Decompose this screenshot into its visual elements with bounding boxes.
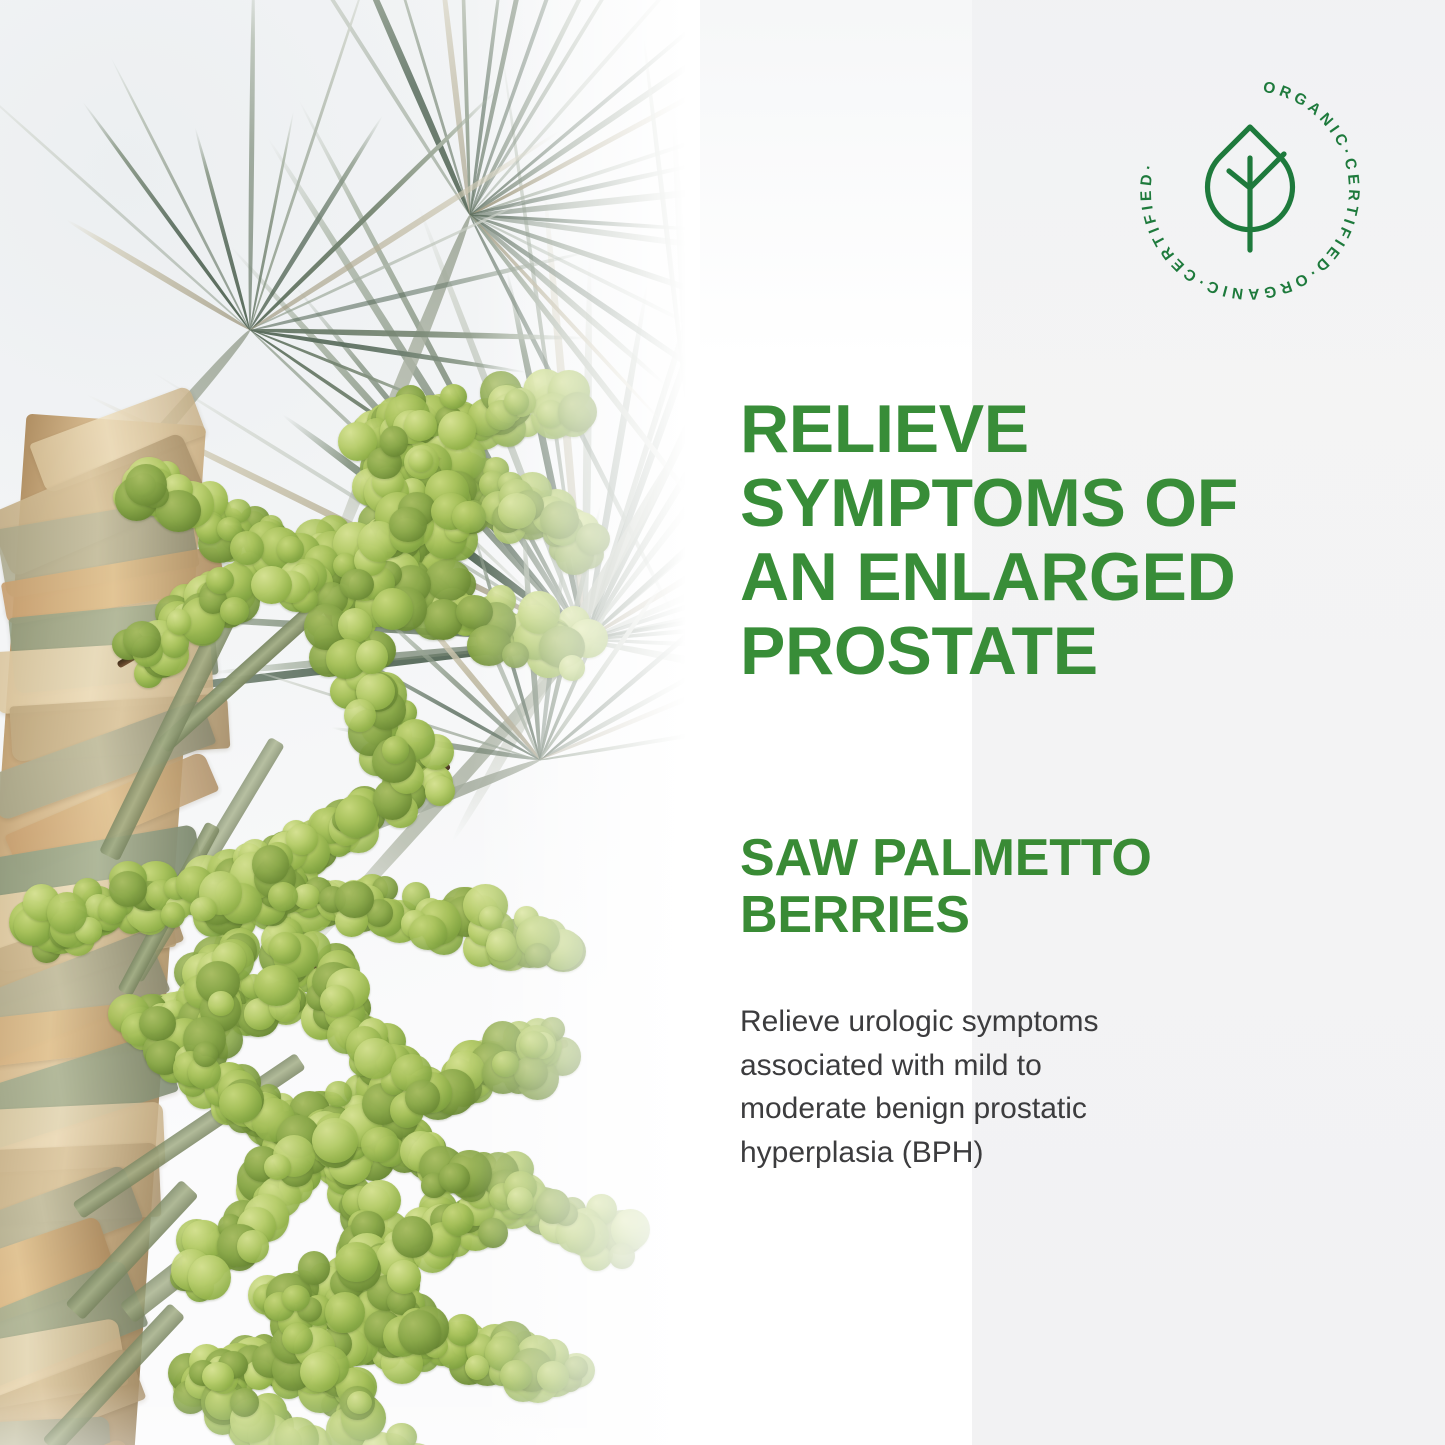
product-photo [0,0,700,1445]
berry [478,1218,508,1248]
berry [208,991,234,1017]
berry [361,1127,399,1162]
page-title: RELIEVE SYMPTOMS OF AN ENLARGED PROSTATE [740,392,1270,688]
berry [282,1323,313,1355]
berry [486,931,518,961]
headline-line-2: SYMPTOMS OF [740,466,1270,540]
text-column: RELIEVE SYMPTOMS OF AN ENLARGED PROSTATE… [740,0,1300,1445]
berry [237,1230,269,1263]
berry [188,1255,231,1300]
berry [438,411,476,450]
berry [425,776,455,807]
berry [452,501,486,533]
berry [300,1352,339,1392]
berry [409,915,447,950]
berry [609,1243,634,1269]
headline-line-4: PROSTATE [740,614,1270,688]
berry [398,1310,441,1355]
body-line-3: moderate benign prostatic [740,1087,1160,1131]
berry [525,943,551,968]
body-line-4: hyperplasia (BPH) [740,1131,1160,1175]
berry [167,609,191,635]
berry [193,1042,218,1067]
berry [446,1314,478,1346]
berry [387,1260,422,1294]
berry [254,965,299,1007]
subhead-line-1: SAW PALMETTO [740,830,1260,887]
headline-line-3: AN ENLARGED [740,540,1270,614]
berry [125,464,167,506]
berry [536,1189,571,1224]
berry [440,384,467,409]
berry [559,655,585,681]
berry [219,1083,262,1123]
berry [540,501,579,540]
berry [109,871,147,906]
berry [504,389,529,415]
berry [456,595,493,629]
berry [576,523,610,555]
berry [338,608,372,643]
berry [320,985,354,1017]
berry [335,881,374,919]
berry [312,1118,358,1163]
berry [277,536,304,563]
ingredient-title: SAW PALMETTO BERRIES [740,830,1260,943]
promo-graphic: ORGANIC·CERTIFIED·ORGANIC·CERTIFIED· REL… [0,0,1445,1445]
berry [372,588,413,630]
berry [354,1038,396,1079]
subhead-line-2: BERRIES [740,887,1260,944]
berry [558,392,597,432]
berry [325,1292,365,1333]
berry [202,1362,234,1391]
berry [161,902,186,928]
berry [335,795,377,839]
berry [282,1285,310,1312]
berry [492,1051,519,1077]
ingredient-description: Relieve urologic symptoms associated wit… [740,1000,1160,1174]
berry [356,640,388,674]
berry [190,897,217,922]
berry [386,1423,417,1445]
berry [298,1251,331,1285]
berry [325,1081,352,1108]
berry [500,1360,532,1390]
berry [230,1388,259,1417]
berry [123,621,161,658]
berry [340,569,374,600]
berry [252,845,289,883]
berry [389,507,427,543]
berry [537,1361,569,1391]
body-line-1: Relieve urologic symptoms [740,1000,1160,1044]
headline-line-1: RELIEVE [740,392,1270,466]
berry [230,531,264,566]
berry-clusters [0,0,700,1445]
berry [344,699,376,732]
berry [380,426,409,456]
berry [206,567,234,595]
body-line-2: associated with mild to [740,1044,1160,1088]
berry [269,932,301,963]
berry [502,642,529,669]
